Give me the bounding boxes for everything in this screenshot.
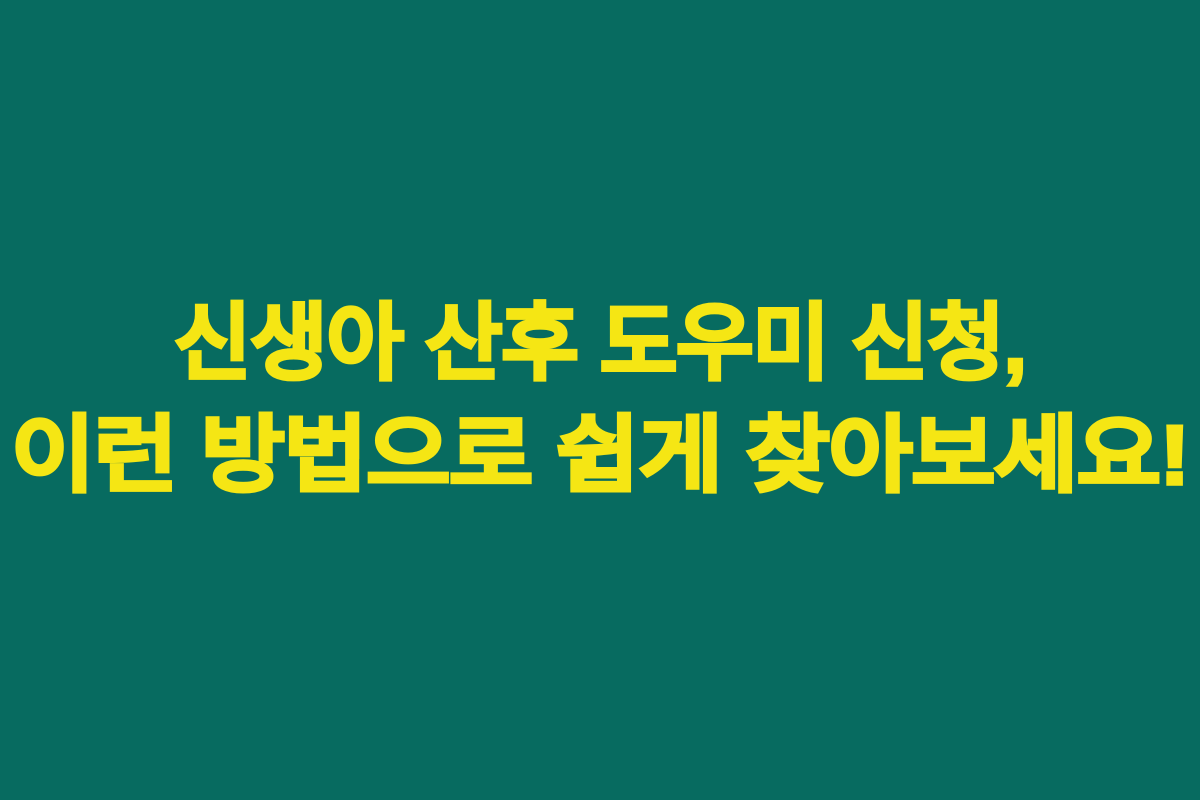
headline-line-1: 신생아 산후 도우미 신청,: [0, 301, 1200, 385]
headline-line-2: 이런 방법으로 쉽게 찾아보세요!: [0, 413, 1200, 497]
headline-block: 신생아 산후 도우미 신청, 이런 방법으로 쉽게 찾아보세요!: [0, 301, 1200, 497]
banner-canvas: 신생아 산후 도우미 신청, 이런 방법으로 쉽게 찾아보세요!: [0, 0, 1200, 800]
